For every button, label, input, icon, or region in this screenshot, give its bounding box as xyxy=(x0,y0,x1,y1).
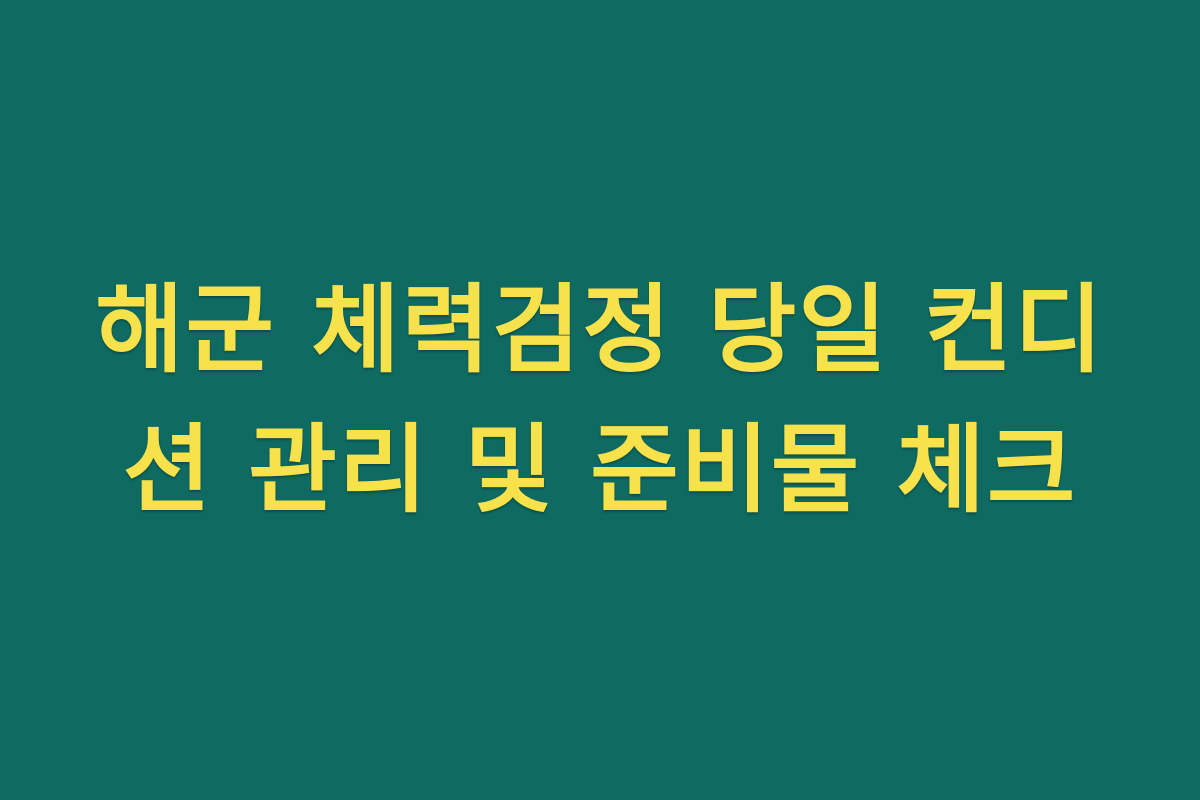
title-line-2: 션 관리 및 준비물 체크 xyxy=(70,400,1130,540)
thumbnail-card: 해군 체력검정 당일 컨디 션 관리 및 준비물 체크 xyxy=(0,0,1200,800)
title-line-1: 해군 체력검정 당일 컨디 xyxy=(70,260,1130,400)
page-title: 해군 체력검정 당일 컨디 션 관리 및 준비물 체크 xyxy=(70,260,1130,540)
